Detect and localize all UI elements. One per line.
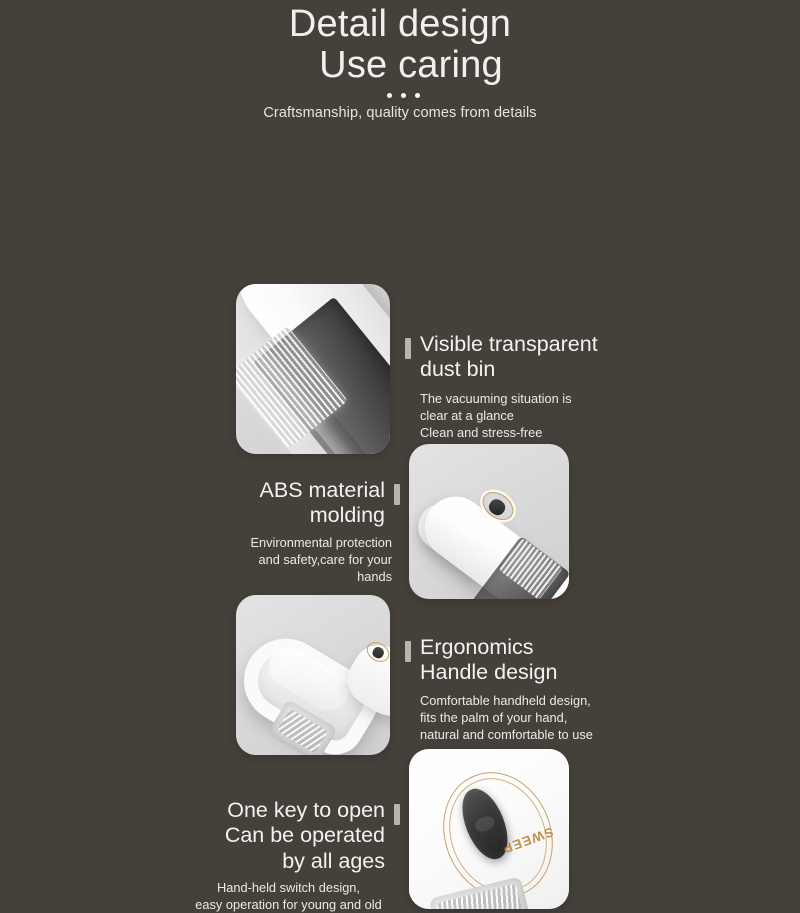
feature-block-one-key-to-open: One key to open Can be operated by all a… — [185, 798, 400, 912]
accent-bar-icon — [394, 804, 400, 825]
page-title-line-2: Use caring — [0, 45, 800, 86]
page-title-line-1: Detail design — [0, 4, 800, 45]
accent-bar-icon — [394, 484, 400, 505]
feature-block-ergonomics-handle-design: Ergonomics Handle design Comfortable han… — [405, 635, 620, 742]
product-image-abs-body — [409, 444, 569, 599]
feature-title: Ergonomics Handle design — [420, 635, 557, 685]
feature-heading: One key to open Can be operated by all a… — [185, 798, 400, 873]
abs-body-illustration — [409, 444, 569, 599]
divider-dot-icon — [401, 93, 406, 98]
page-header: Detail design Use caring Craftsmanship, … — [0, 0, 800, 121]
feature-title: ABS material molding — [260, 478, 385, 528]
accent-bar-icon — [405, 641, 411, 662]
accent-bar-icon — [405, 338, 411, 359]
divider-dot-icon — [415, 93, 420, 98]
feature-block-visible-transparent-dust-bin: Visible transparent dust bin The vacuumi… — [405, 332, 620, 440]
divider-dot-icon — [387, 93, 392, 98]
product-image-switch: SWEEP — [409, 749, 569, 909]
handle-illustration — [236, 595, 390, 755]
gold-cap-ring-icon — [236, 284, 311, 293]
feature-title: Visible transparent dust bin — [420, 332, 598, 382]
product-image-handle — [236, 595, 390, 755]
feature-description: Comfortable handheld design, fits the pa… — [420, 692, 620, 743]
feature-description: Environmental protection and safety,care… — [200, 534, 392, 585]
dots-divider — [0, 93, 800, 98]
product-image-dust-bin — [236, 284, 390, 454]
dust-bin-illustration — [236, 284, 390, 454]
feature-description: The vacuuming situation is clear at a gl… — [420, 390, 620, 441]
feature-block-abs-material-molding: ABS material molding Environmental prote… — [200, 478, 400, 584]
feature-heading: Ergonomics Handle design — [405, 635, 620, 685]
feature-heading: Visible transparent dust bin — [405, 332, 620, 382]
feature-description: Hand-held switch design, easy operation … — [185, 879, 392, 913]
feature-stage: SWEEP Visible transparent dust bin The v… — [0, 121, 800, 781]
switch-illustration: SWEEP — [409, 749, 569, 909]
feature-title: One key to open Can be operated by all a… — [225, 798, 385, 873]
page-subtitle: Craftsmanship, quality comes from detail… — [0, 105, 800, 121]
feature-heading: ABS material molding — [200, 478, 400, 528]
